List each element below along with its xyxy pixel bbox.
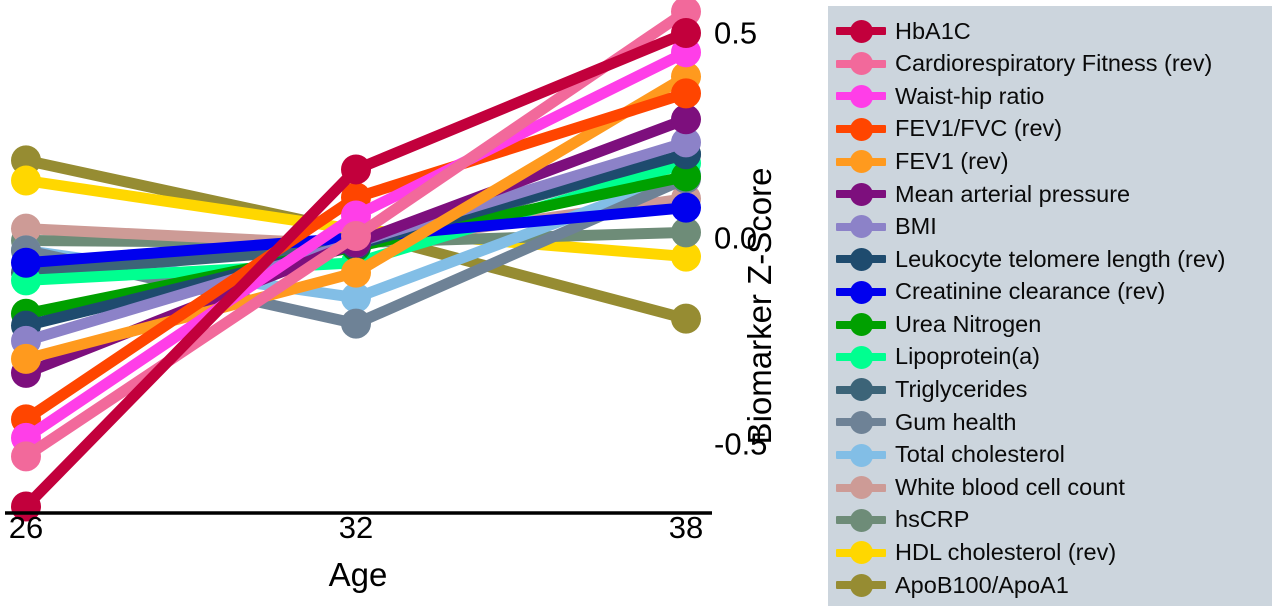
legend-marker-icon xyxy=(836,344,886,370)
legend-item[interactable]: Lipoprotein(a) xyxy=(836,341,1272,374)
legend-item[interactable]: FEV1/FVC (rev) xyxy=(836,113,1272,146)
data-point-marker xyxy=(11,248,41,278)
legend-marker-icon xyxy=(836,149,886,175)
data-point-marker xyxy=(341,221,371,251)
legend-item[interactable]: Total cholesterol xyxy=(836,439,1272,472)
legend-marker-icon xyxy=(836,312,886,338)
legend-item[interactable]: Waist-hip ratio xyxy=(836,80,1272,113)
legend-item-label: Urea Nitrogen xyxy=(895,313,1041,337)
legend-item-label: hsCRP xyxy=(895,508,969,532)
data-point-marker xyxy=(671,104,701,134)
legend-item-label: BMI xyxy=(895,215,937,239)
legend-marker-icon xyxy=(836,116,886,142)
legend-panel: HbA1CCardiorespiratory Fitness (rev)Wais… xyxy=(828,6,1272,606)
legend-item[interactable]: HbA1C xyxy=(836,15,1272,48)
legend-item[interactable]: ApoB100/ApoA1 xyxy=(836,569,1272,602)
legend-item-label: Waist-hip ratio xyxy=(895,85,1044,109)
legend-item[interactable]: Mean arterial pressure xyxy=(836,178,1272,211)
legend-item[interactable]: Creatinine clearance (rev) xyxy=(836,276,1272,309)
legend-item[interactable]: Urea Nitrogen xyxy=(836,308,1272,341)
legend-item[interactable]: Gum health xyxy=(836,406,1272,439)
legend-item[interactable]: HDL cholesterol (rev) xyxy=(836,537,1272,570)
legend-marker-icon xyxy=(836,246,886,272)
legend-item-label: HDL cholesterol (rev) xyxy=(895,541,1116,565)
x-tick-label-32: 32 xyxy=(339,512,373,543)
y-tick-label-0p5: 0.5 xyxy=(714,18,757,49)
legend-marker-icon xyxy=(836,475,886,501)
legend-marker-icon xyxy=(836,279,886,305)
y-axis-title: Biomarker Z-Score xyxy=(741,168,779,445)
legend-marker-icon xyxy=(836,442,886,468)
legend-item-label: Lipoprotein(a) xyxy=(895,345,1040,369)
legend-item[interactable]: hsCRP xyxy=(836,504,1272,537)
x-tick-label-38: 38 xyxy=(669,512,703,543)
legend-item[interactable]: FEV1 (rev) xyxy=(836,145,1272,178)
legend-marker-icon xyxy=(836,572,886,598)
data-point-marker xyxy=(341,309,371,339)
legend-marker-icon xyxy=(836,214,886,240)
data-point-marker xyxy=(11,441,41,471)
plot-area: 263238 0.50.0-0.5 Age Biomarker Z-Score xyxy=(0,0,820,612)
data-point-marker xyxy=(671,78,701,108)
legend-item-label: ApoB100/ApoA1 xyxy=(895,574,1069,598)
series-group xyxy=(11,0,701,521)
data-point-marker xyxy=(341,258,371,288)
legend-item-label: FEV1 (rev) xyxy=(895,150,1009,174)
data-point-marker xyxy=(341,154,371,184)
legend-item-label: FEV1/FVC (rev) xyxy=(895,117,1062,141)
legend-item[interactable]: Cardiorespiratory Fitness (rev) xyxy=(836,48,1272,81)
data-point-marker xyxy=(671,304,701,334)
legend-item-label: Total cholesterol xyxy=(895,443,1065,467)
legend-item-label: Cardiorespiratory Fitness (rev) xyxy=(895,52,1212,76)
legend-item-label: Mean arterial pressure xyxy=(895,183,1130,207)
legend-item-label: Gum health xyxy=(895,411,1016,435)
legend-item-label: HbA1C xyxy=(895,20,971,44)
x-axis-title: Age xyxy=(329,556,388,594)
legend-marker-icon xyxy=(836,507,886,533)
legend-item-label: Leukocyte telomere length (rev) xyxy=(895,248,1225,272)
biomarker-z-score-figure: 263238 0.50.0-0.5 Age Biomarker Z-Score … xyxy=(0,0,1280,612)
legend-marker-icon xyxy=(836,18,886,44)
legend-marker-icon xyxy=(836,377,886,403)
legend-item-label: Creatinine clearance (rev) xyxy=(895,280,1165,304)
legend-item-label: White blood cell count xyxy=(895,476,1125,500)
data-point-marker xyxy=(11,166,41,196)
legend-item[interactable]: White blood cell count xyxy=(836,471,1272,504)
legend-item[interactable]: Leukocyte telomere length (rev) xyxy=(836,243,1272,276)
legend-marker-icon xyxy=(836,51,886,77)
data-point-marker xyxy=(671,18,701,48)
x-tick-label-26: 26 xyxy=(9,512,43,543)
legend-marker-icon xyxy=(836,540,886,566)
legend-marker-icon xyxy=(836,409,886,435)
legend-marker-icon xyxy=(836,181,886,207)
legend-item[interactable]: Triglycerides xyxy=(836,374,1272,407)
legend-marker-icon xyxy=(836,83,886,109)
data-point-marker xyxy=(11,344,41,374)
data-point-marker xyxy=(671,193,701,223)
legend-item[interactable]: BMI xyxy=(836,211,1272,244)
legend-item-label: Triglycerides xyxy=(895,378,1027,402)
